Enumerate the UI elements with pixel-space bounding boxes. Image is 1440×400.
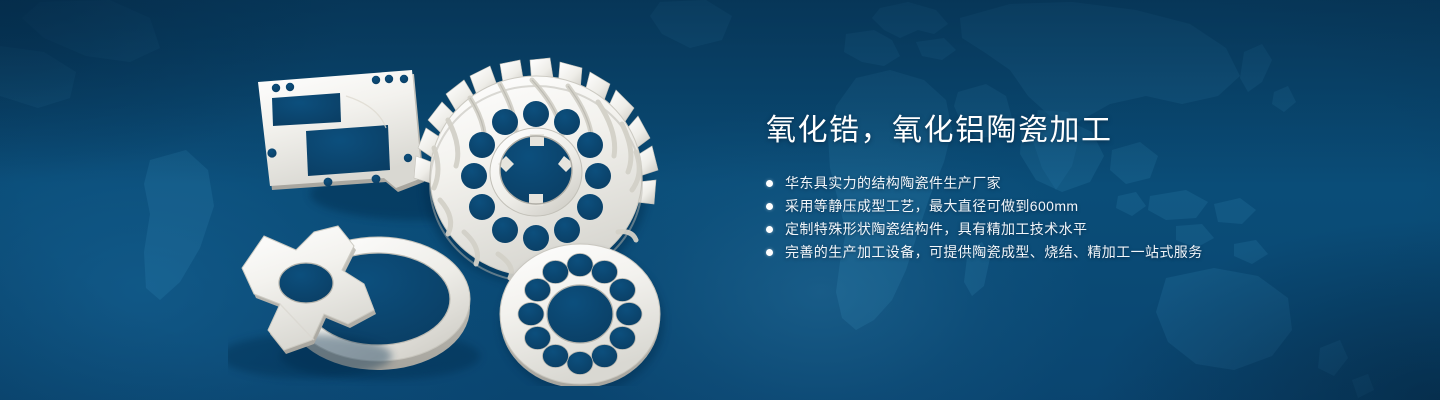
list-item: 完善的生产加工设备，可提供陶瓷成型、烧结、精加工一站式服务 <box>766 241 1406 264</box>
feature-text: 华东具实力的结构陶瓷件生产厂家 <box>785 172 1001 195</box>
hero-banner: 氧化锆，氧化铝陶瓷加工 华东具实力的结构陶瓷件生产厂家 采用等静压成型工艺，最大… <box>0 0 1440 400</box>
feature-text: 完善的生产加工设备，可提供陶瓷成型、烧结、精加工一站式服务 <box>785 241 1203 264</box>
bullet-dot-icon <box>766 180 773 187</box>
list-item: 华东具实力的结构陶瓷件生产厂家 <box>766 172 1406 195</box>
bullet-dot-icon <box>766 249 773 256</box>
banner-copy: 氧化锆，氧化铝陶瓷加工 华东具实力的结构陶瓷件生产厂家 采用等静压成型工艺，最大… <box>766 112 1406 264</box>
feature-list: 华东具实力的结构陶瓷件生产厂家 采用等静压成型工艺，最大直径可做到600mm 定… <box>766 172 1406 264</box>
bullet-dot-icon <box>766 203 773 210</box>
ceramic-impeller-disc <box>414 58 658 286</box>
feature-text: 定制特殊形状陶瓷结构件，具有精加工技术水平 <box>785 218 1087 241</box>
list-item: 定制特殊形状陶瓷结构件，具有精加工技术水平 <box>766 218 1406 241</box>
ceramic-perforated-ring <box>500 244 664 386</box>
list-item: 采用等静压成型工艺，最大直径可做到600mm <box>766 195 1406 218</box>
feature-text: 采用等静压成型工艺，最大直径可做到600mm <box>785 195 1078 218</box>
ceramic-products-image <box>228 36 698 386</box>
bullet-dot-icon <box>766 226 773 233</box>
banner-headline: 氧化锆，氧化铝陶瓷加工 <box>766 112 1406 150</box>
